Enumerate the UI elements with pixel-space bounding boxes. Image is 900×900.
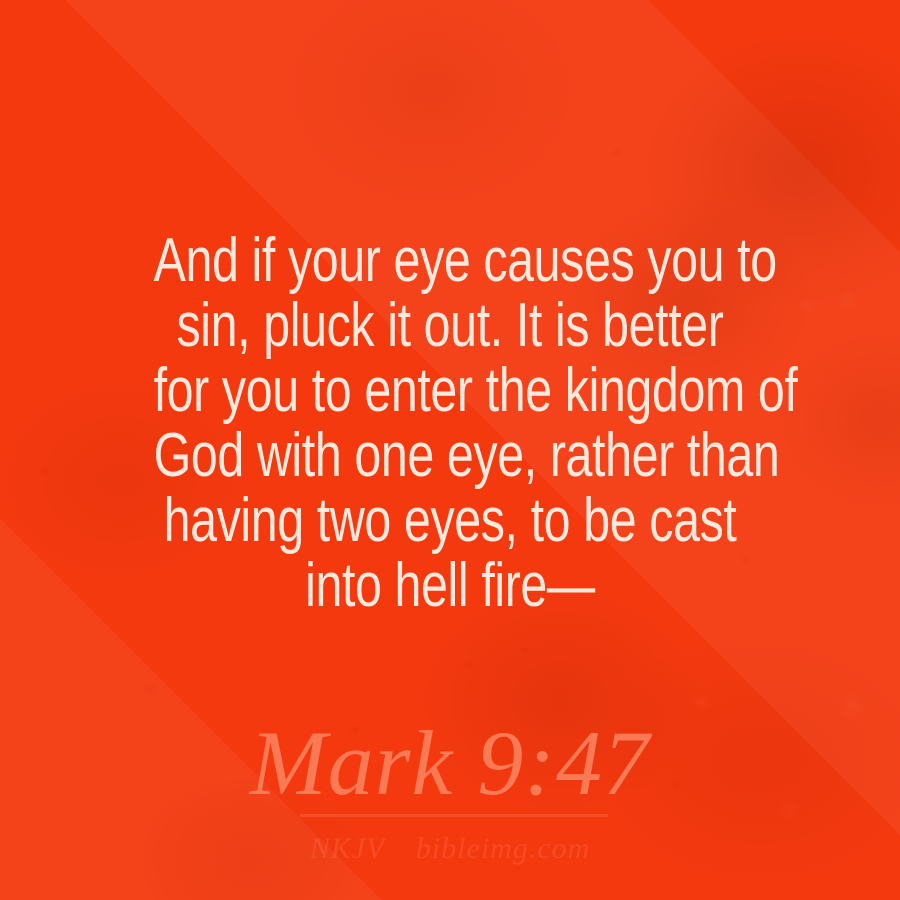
verse-reference: Mark 9:47 xyxy=(0,716,900,810)
verse-line: into hell fire— xyxy=(154,553,747,618)
source-site-label: bibleimg.com xyxy=(416,832,590,865)
bible-translation-label: NKJV xyxy=(310,832,385,865)
verse-line: sin, pluck it out. It is better xyxy=(154,293,747,358)
verse-line: for you to enter the kingdom of xyxy=(154,358,747,423)
verse-line: And if your eye causes you to xyxy=(154,228,747,293)
footer-credit: NKJV bibleimg.com xyxy=(0,832,900,866)
verse-line: God with one eye, rather than xyxy=(154,423,747,488)
poster-content: And if your eye causes you to sin, pluck… xyxy=(0,0,900,900)
verse-quote: And if your eye causes you to sin, pluck… xyxy=(154,228,747,618)
divider-rule xyxy=(300,814,608,817)
verse-line: having two eyes, to be cast xyxy=(154,488,747,553)
verse-poster: And if your eye causes you to sin, pluck… xyxy=(0,0,900,900)
